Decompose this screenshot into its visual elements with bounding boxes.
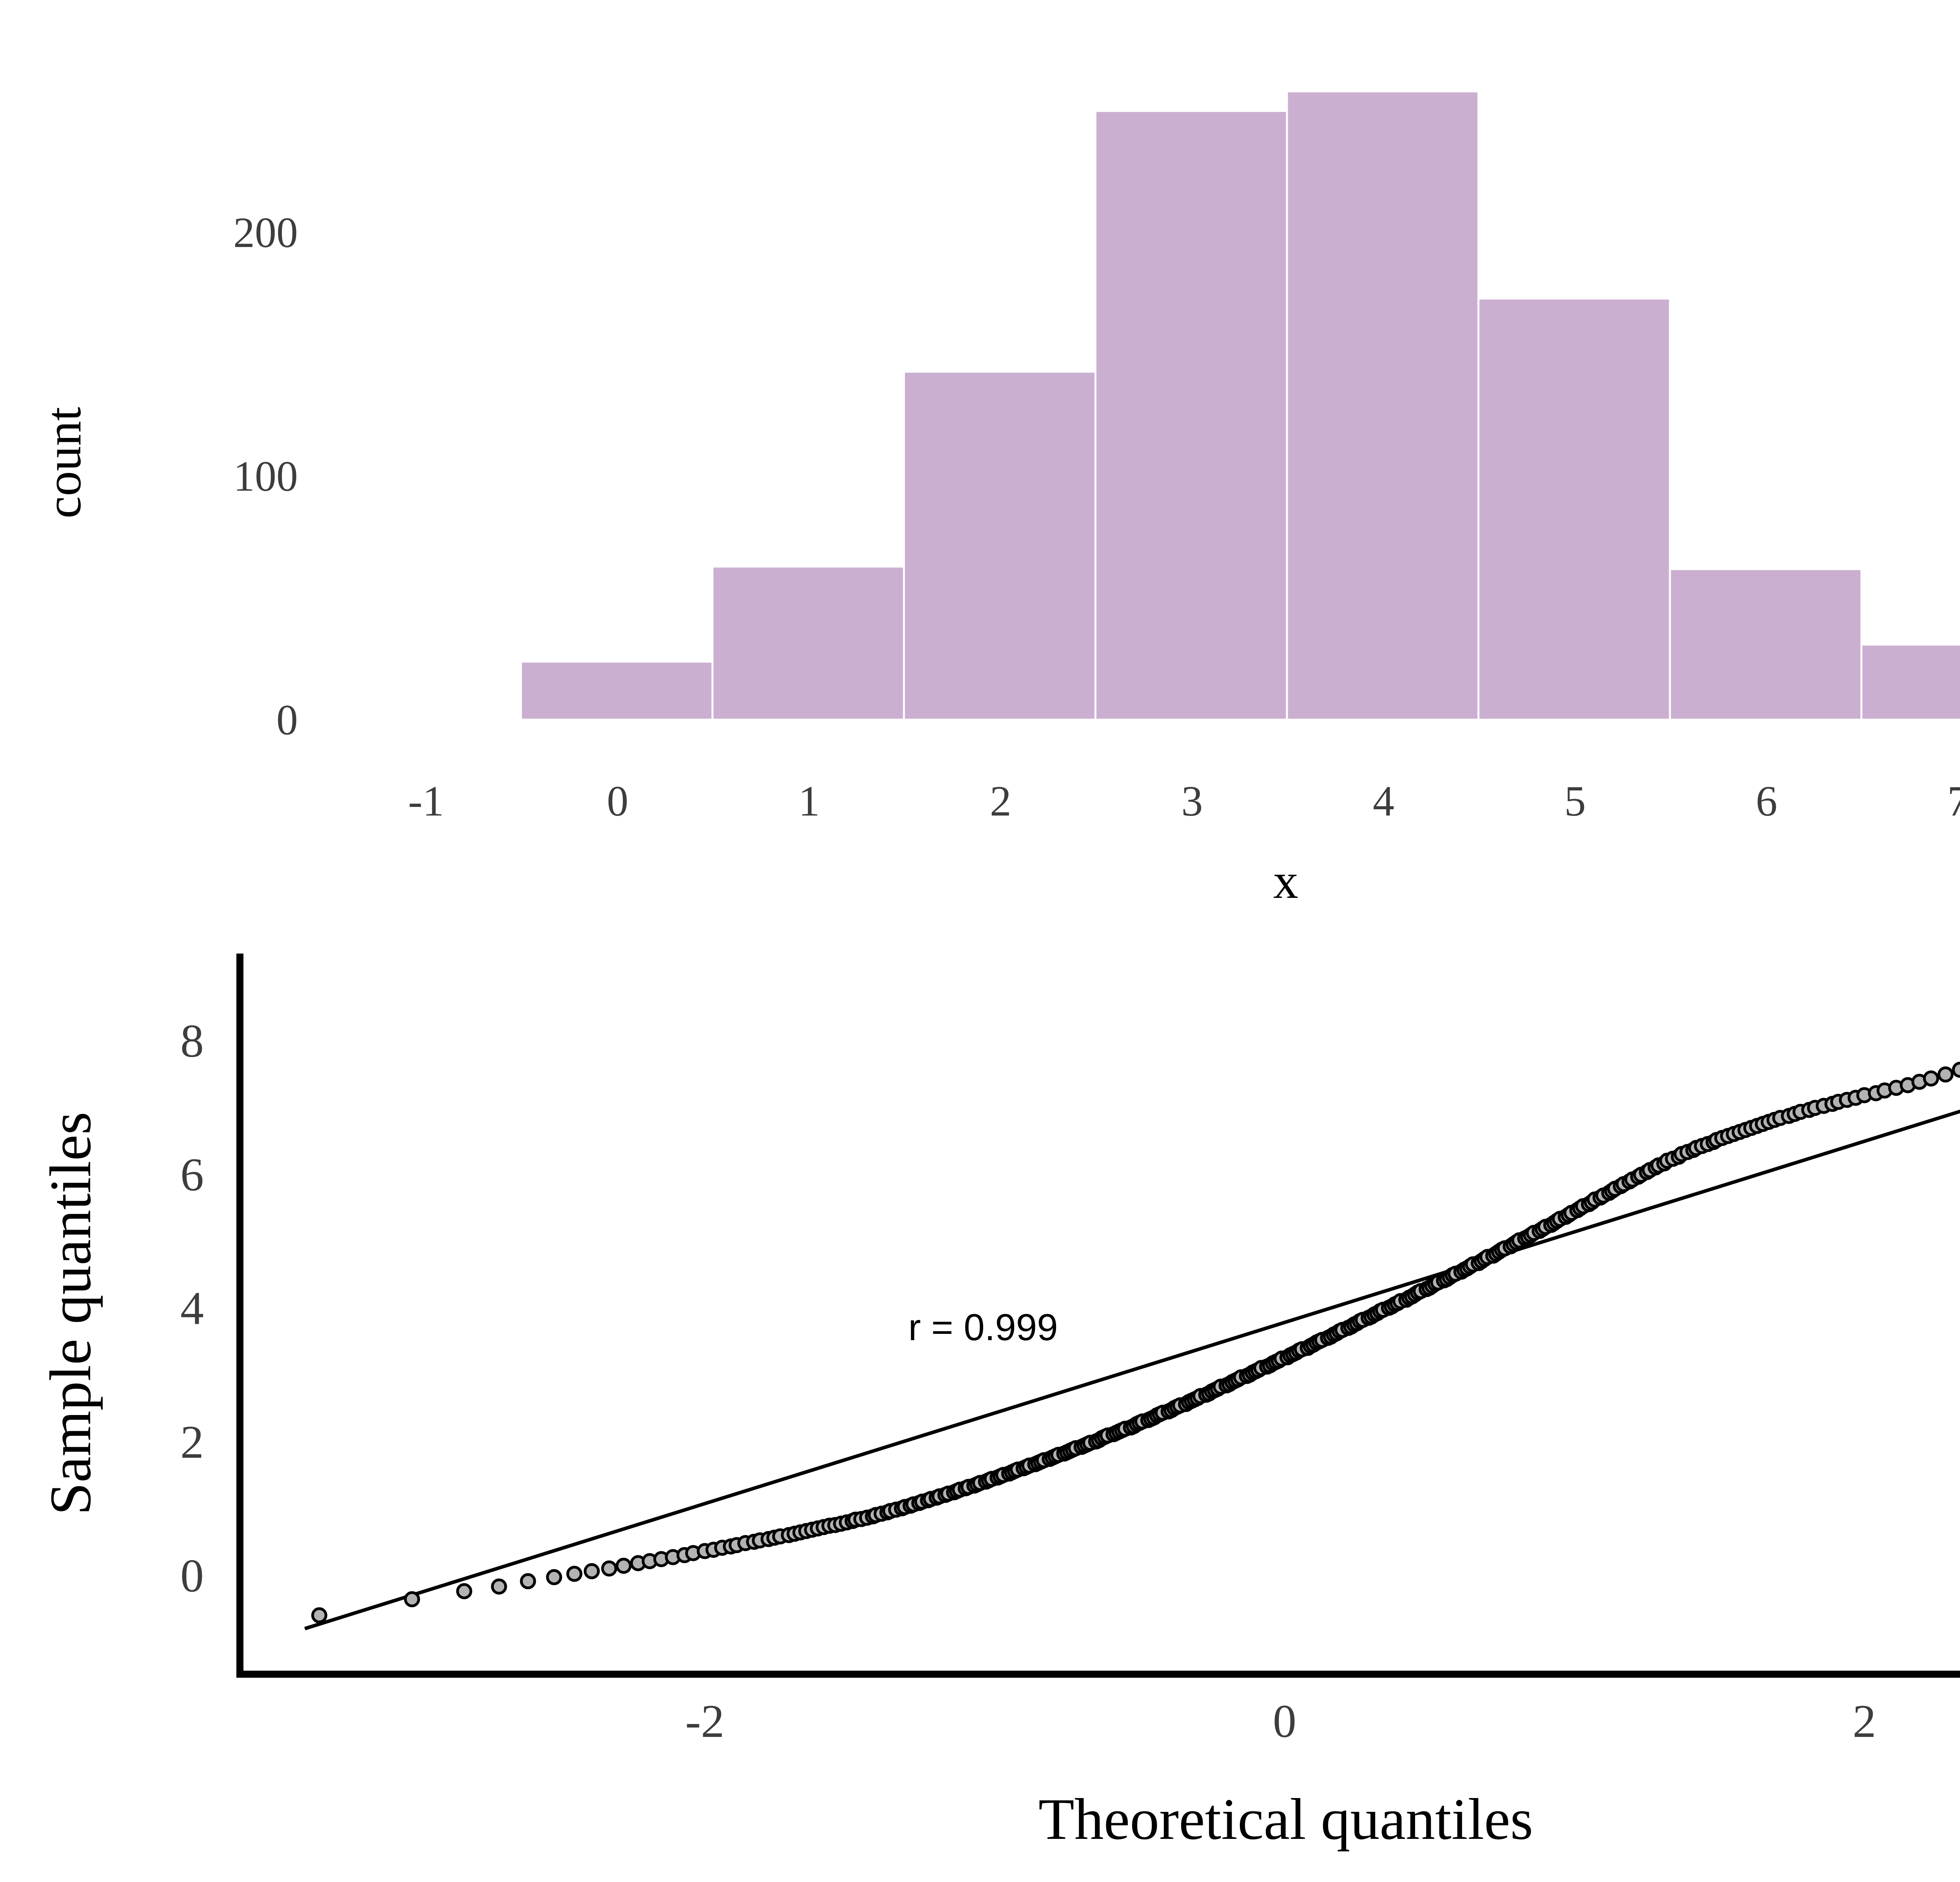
histogram-bar: [1288, 93, 1477, 719]
qq-x-tick-label: -2: [685, 1695, 724, 1747]
histogram-x-tick-label: -1: [408, 777, 444, 825]
figure-background: [0, 0, 1960, 1882]
histogram-y-tick-label: 100: [233, 452, 298, 500]
figure-root: 0100200 -1012345678 count x 02468 -202 r…: [0, 0, 1960, 1882]
qq-point: [603, 1562, 616, 1575]
histogram-x-tick-label: 4: [1373, 777, 1394, 825]
qq-point: [617, 1559, 630, 1573]
qq-point: [457, 1584, 471, 1598]
histogram-bar: [1862, 646, 1960, 719]
qq-point: [313, 1609, 326, 1622]
qq-point: [1924, 1072, 1938, 1085]
histogram-bar: [713, 568, 903, 719]
qq-y-tick-label: 0: [180, 1550, 204, 1602]
histogram-y-tick-label: 200: [233, 209, 298, 256]
qq-point: [405, 1593, 419, 1606]
histogram-y-tick-label: 0: [276, 696, 298, 744]
histogram-x-tick-label: 3: [1181, 777, 1203, 825]
histogram-bar: [1479, 300, 1669, 719]
qq-correlation-annotation: r = 0.999: [908, 1306, 1058, 1348]
qq-y-axis-title: Sample quantiles: [38, 1112, 103, 1515]
qq-point: [1939, 1068, 1952, 1081]
qq-point: [492, 1580, 506, 1593]
histogram-bar: [905, 373, 1094, 719]
histogram-y-axis-title: count: [36, 407, 91, 518]
histogram-x-tick-label: 2: [990, 777, 1011, 825]
qq-x-tick-label: 2: [1853, 1695, 1876, 1747]
qq-point: [585, 1564, 599, 1578]
qq-y-tick-label: 8: [180, 1015, 204, 1067]
histogram-x-tick-label: 6: [1756, 777, 1777, 825]
qq-y-tick-label: 2: [180, 1416, 204, 1468]
histogram-x-tick-label: 5: [1564, 777, 1586, 825]
histogram-bar: [1096, 112, 1286, 719]
qq-point: [1953, 1063, 1960, 1076]
histogram-bar: [522, 663, 711, 719]
qq-point: [521, 1575, 535, 1588]
figure-svg: 0100200 -1012345678 count x 02468 -202 r…: [0, 0, 1960, 1882]
qq-x-tick-label: 0: [1273, 1695, 1296, 1747]
histogram-x-tick-label: 1: [799, 777, 820, 825]
qq-point: [548, 1571, 561, 1584]
qq-y-tick-label: 6: [180, 1148, 204, 1201]
qq-point: [568, 1567, 581, 1580]
histogram-x-axis-title: x: [1273, 853, 1298, 909]
histogram-bar: [1671, 570, 1860, 719]
qq-y-tick-label: 4: [180, 1282, 204, 1334]
histogram-x-tick-label: 0: [607, 777, 628, 825]
qq-x-axis-title: Theoretical quantiles: [1038, 1787, 1533, 1852]
histogram-x-tick-label: 7: [1947, 777, 1960, 825]
